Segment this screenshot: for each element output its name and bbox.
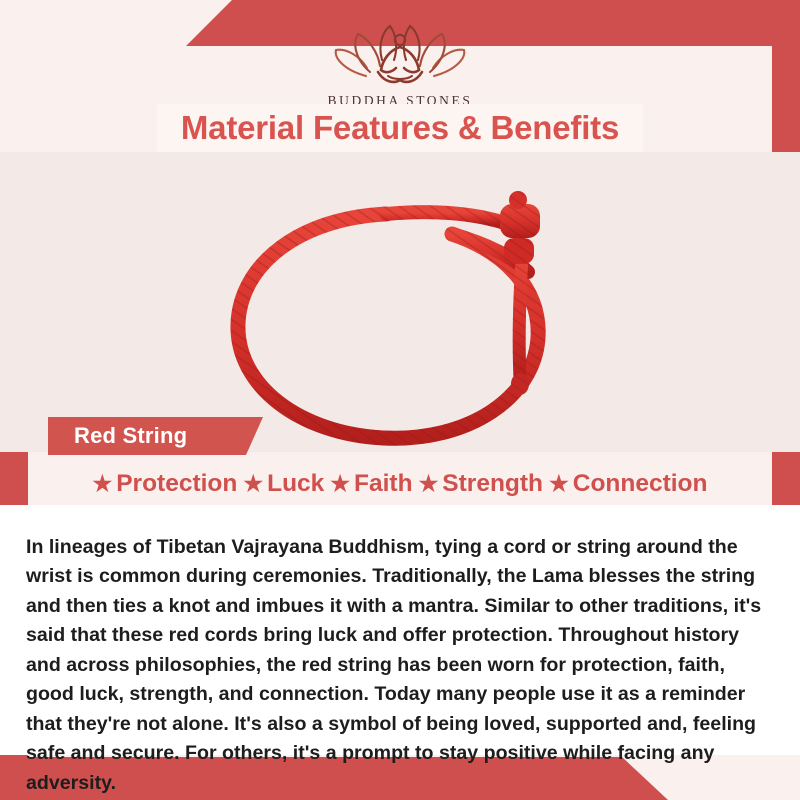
description-text: In lineages of Tibetan Vajrayana Buddhis…: [26, 533, 778, 799]
title-banner: Material Features & Benefits: [157, 104, 643, 152]
benefits-list: ★ Protection ★ Luck ★ Faith ★ Strength ★…: [0, 463, 800, 505]
star-icon: ★: [92, 473, 112, 495]
page-title: Material Features & Benefits: [181, 109, 619, 147]
lotus-meditation-icon: [320, 14, 480, 90]
red-string-bracelet-image: [0, 152, 800, 452]
benefit-item-connection: ★ Connection: [546, 470, 710, 498]
benefit-label: Luck: [267, 470, 324, 498]
brand-logo: BUDDHA STONES: [0, 14, 800, 109]
benefit-label: Connection: [573, 470, 708, 498]
benefit-item-luck: ★ Luck: [240, 470, 327, 498]
infographic-page: BUDDHA STONES Material Features & Benefi…: [0, 0, 800, 800]
benefit-item-protection: ★ Protection: [89, 470, 240, 498]
description-panel: In lineages of Tibetan Vajrayana Buddhis…: [0, 505, 800, 755]
star-icon: ★: [419, 473, 439, 495]
benefit-item-faith: ★ Faith: [327, 470, 415, 498]
benefit-label: Strength: [442, 470, 543, 498]
star-icon: ★: [243, 473, 263, 495]
star-icon: ★: [549, 473, 569, 495]
benefit-label: Faith: [354, 470, 413, 498]
material-label-tag: Red String: [48, 417, 263, 455]
material-label-text: Red String: [74, 417, 187, 455]
benefit-label: Protection: [116, 470, 237, 498]
hero-image-area: [0, 152, 800, 452]
star-icon: ★: [330, 473, 350, 495]
benefit-item-strength: ★ Strength: [416, 470, 546, 498]
